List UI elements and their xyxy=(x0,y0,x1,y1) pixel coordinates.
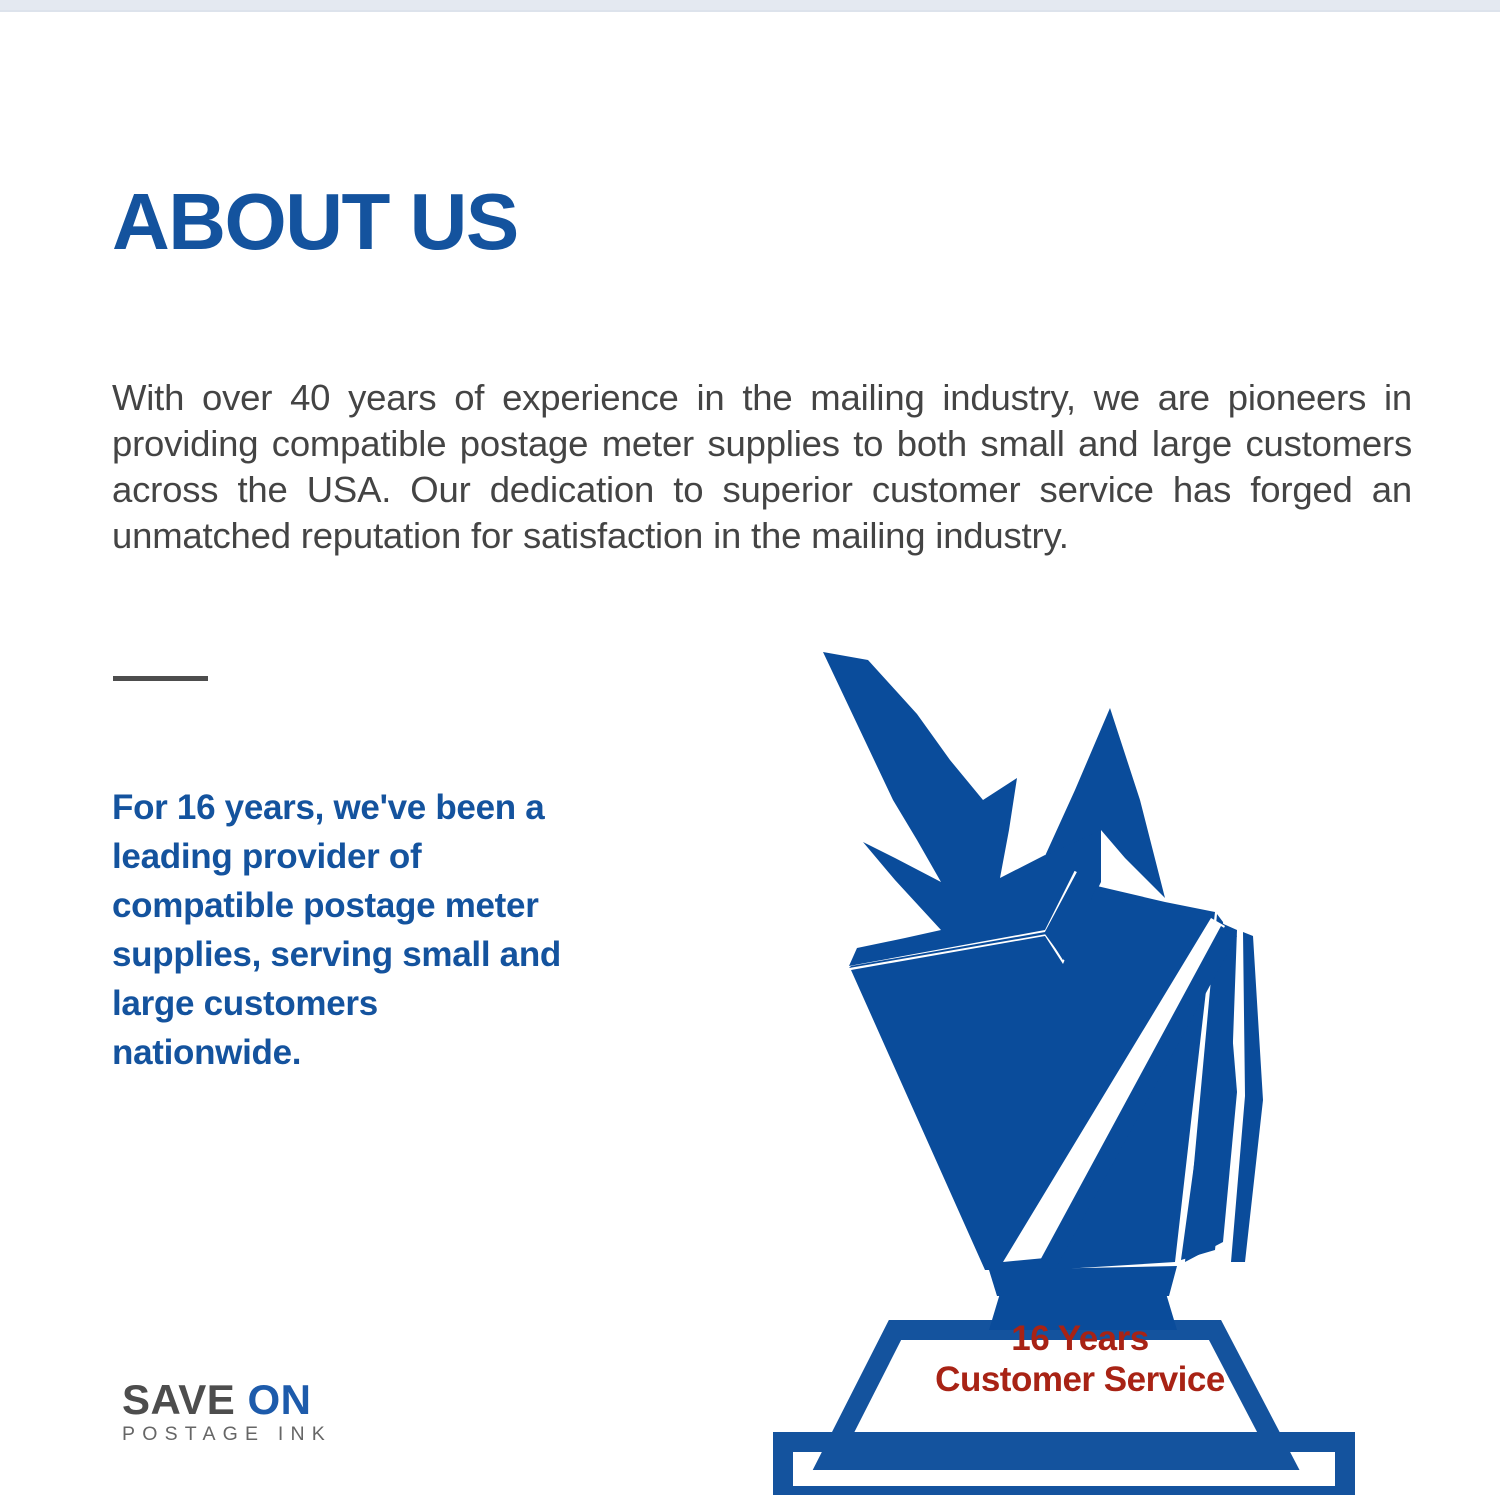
brand-logo[interactable]: SAVE ON POSTAGE INK xyxy=(122,1378,362,1446)
trophy-base-label: 16 Years Customer Service xyxy=(855,1318,1305,1400)
page-title: ABOUT US xyxy=(112,182,518,262)
top-edge-strip-line xyxy=(0,10,1500,12)
section-divider xyxy=(113,676,208,681)
about-us-slide: ABOUT US With over 40 years of experienc… xyxy=(0,0,1500,1495)
logo-word-save: SAVE xyxy=(122,1376,235,1423)
intro-paragraph: With over 40 years of experience in the … xyxy=(112,375,1412,559)
logo-wordmark: SAVE ON xyxy=(122,1378,362,1422)
logo-tagline: POSTAGE INK xyxy=(122,1422,362,1446)
highlight-statement: For 16 years, we've been a leading provi… xyxy=(112,783,732,1077)
logo-word-on: ON xyxy=(247,1376,311,1423)
top-edge-strip xyxy=(0,0,1500,10)
